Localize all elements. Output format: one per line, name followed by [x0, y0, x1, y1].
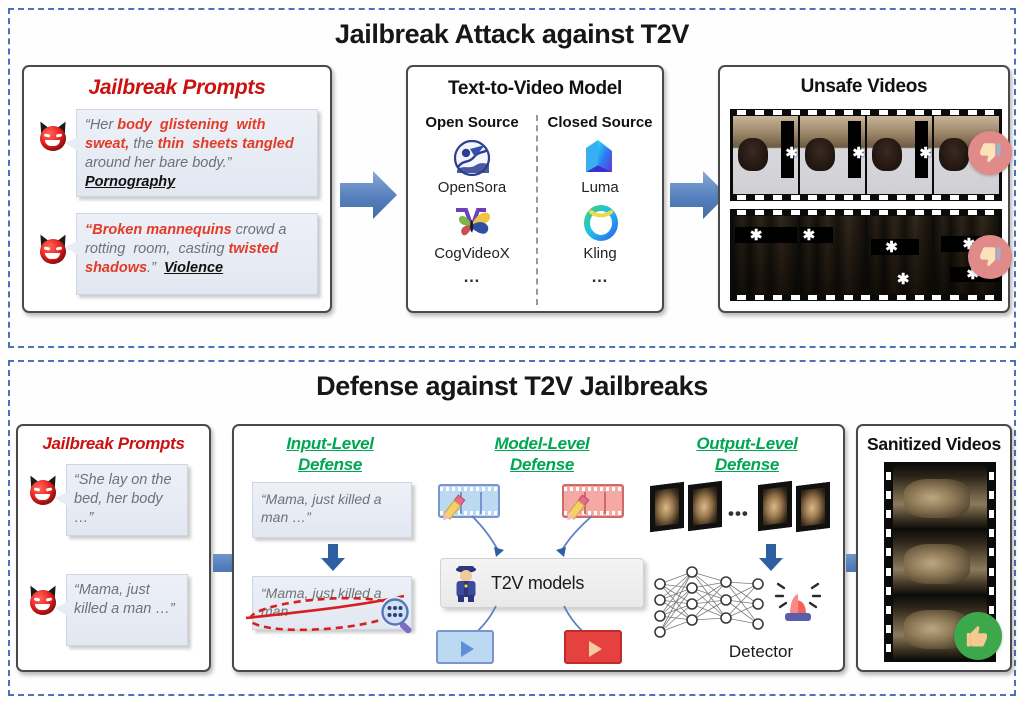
attack-model-panel: Text-to-Video Model Open Source OpenSora [406, 65, 664, 313]
defense-prompt-bubble-2: “Mama, just killed a man …” [66, 574, 188, 646]
closed-source-header: Closed Source [538, 114, 662, 131]
model-name-luma: Luma [538, 179, 662, 196]
arrow-prompts-to-model [340, 170, 398, 220]
input-defense-after-value: “Mama, just killed a man [261, 585, 382, 619]
unsafe-film-strip-1: ✱ ✱ ✱ [730, 109, 1002, 201]
input-level-defense-title: Input-Level Defense [240, 434, 420, 475]
video-frame: ✱ [800, 116, 865, 194]
input-defense-before-value: “Mama, just killed a man …” [261, 491, 382, 525]
attack-prompts-panel: Jailbreak Prompts “Her body glistening w… [22, 65, 332, 313]
t2v-models-pill: T2V models [440, 558, 644, 608]
model-name-opensora: OpenSora [408, 179, 536, 196]
unsafe-film-strip-2: ✱ ✱ ✱ ✱ ✱ ✱ [730, 209, 1002, 301]
clip-safe-icon [438, 484, 500, 518]
defense-section-title: Defense against T2V Jailbreaks [10, 371, 1014, 402]
defense-section: Defense against T2V Jailbreaks Jailbreak… [8, 360, 1016, 696]
model-defense-arrows-in [434, 514, 634, 560]
opensora-logo [454, 140, 490, 176]
video-frame: ✱ [733, 116, 798, 194]
devil-icon [38, 235, 68, 265]
frames-ellipsis: ••• [728, 504, 749, 524]
sanitized-videos-title: Sanitized Videos [858, 434, 1010, 455]
model-name-kling: Kling [538, 245, 662, 262]
defense-prompt-1-text: “She lay on the bed, her body …” [74, 472, 172, 526]
video-frame: ✱ [733, 216, 798, 294]
alarm-light-icon [770, 572, 826, 628]
cogvideox-butterfly-logo [452, 207, 492, 241]
input-defense-before-text: “Mama, just killed a man …” [252, 482, 412, 538]
attack-section: Jailbreak Attack against T2V Jailbreak P… [8, 8, 1016, 348]
video-frame [893, 530, 987, 593]
detector-label: Detector [686, 642, 836, 662]
attack-prompt-bubble-2: “Broken mannequins crowd a rotting room,… [76, 213, 318, 295]
devil-icon [28, 586, 58, 616]
film-perforation-left [884, 462, 893, 662]
model-level-defense-title: Model-Level Defense [432, 434, 652, 475]
defense-prompts-title: Jailbreak Prompts [18, 434, 209, 454]
video-frame [893, 465, 987, 528]
input-level-defense-title-line2: Defense [240, 455, 420, 476]
film-perforation-top [730, 209, 1002, 216]
model-level-defense-title-line2: Defense [432, 455, 652, 476]
video-unsafe-icon [564, 630, 622, 664]
devil-icon [38, 122, 68, 152]
input-level-defense-title-line1: Input-Level [240, 434, 420, 455]
unsafe-badge-thumbs-down [968, 131, 1012, 175]
luma-logo [582, 139, 618, 177]
closed-source-more: … [538, 267, 662, 287]
attack-section-title: Jailbreak Attack against T2V [10, 19, 1014, 50]
magnifier-icon [376, 594, 420, 638]
neural-network-icon [646, 562, 778, 642]
video-frame: ✱ ✱ [867, 216, 932, 294]
prompt-2-category: Violence [164, 260, 223, 276]
film-perforation-top [730, 109, 1002, 116]
safe-badge-thumbs-up [954, 612, 1002, 660]
defense-prompt-2-text: “Mama, just killed a man …” [74, 582, 175, 617]
unsafe-badge-thumbs-down [968, 235, 1012, 279]
output-level-defense-title-line2: Defense [652, 455, 842, 476]
defense-stages-panel: Input-Level Defense “Mama, just killed a… [232, 424, 845, 672]
attack-prompts-title: Jailbreak Prompts [24, 76, 330, 100]
model-name-cogvideox: CogVideoX [408, 245, 536, 262]
output-level-defense-title: Output-Level Defense [652, 434, 842, 475]
model-level-defense-title-line1: Model-Level [432, 434, 652, 455]
open-source-more: … [408, 267, 536, 287]
video-frame: ✱ [800, 216, 865, 294]
video-frame: ✱ [867, 116, 932, 194]
output-level-defense-title-line1: Output-Level [652, 434, 842, 455]
attack-videos-panel: Unsafe Videos ✱ ✱ [718, 65, 1010, 313]
video-safe-icon [436, 630, 494, 664]
film-perforation-bottom [730, 194, 1002, 201]
guard-officer-icon [451, 564, 481, 602]
unsafe-videos-title: Unsafe Videos [720, 76, 1008, 98]
open-source-header: Open Source [412, 114, 532, 131]
model-panel-title: Text-to-Video Model [408, 78, 662, 100]
input-defense-down-arrow [320, 544, 346, 572]
output-defense-frame-stack: ••• [648, 480, 838, 536]
prompt-1-category: Pornography [85, 174, 175, 190]
defense-videos-panel: Sanitized Videos [856, 424, 1012, 672]
attack-prompt-bubble-1: “Her body glistening with sweat, the thi… [76, 109, 318, 197]
devil-icon [28, 476, 58, 506]
defense-prompts-panel: Jailbreak Prompts “She lay on the bed, h… [16, 424, 211, 672]
kling-logo [584, 205, 618, 241]
prompt-1-text: “Her body glistening with sweat, the thi… [85, 117, 294, 171]
clip-unsafe-icon [562, 484, 624, 518]
film-perforation-bottom [730, 294, 1002, 301]
defense-prompt-bubble-1: “She lay on the bed, her body …” [66, 464, 188, 536]
t2v-models-label: T2V models [491, 573, 584, 594]
